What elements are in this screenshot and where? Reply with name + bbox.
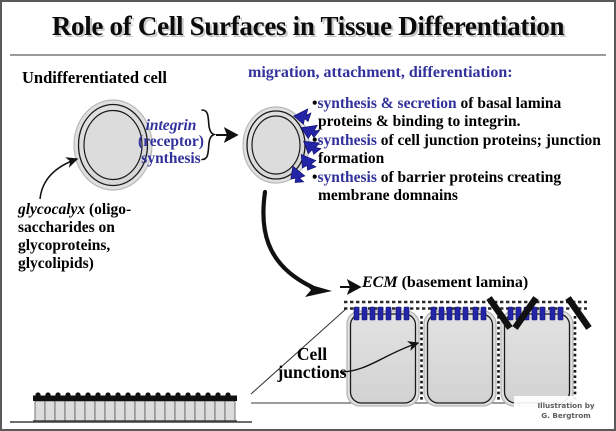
ecm-detail: (basement lamina) [398,274,529,291]
list-item: •synthesis & secretion of basal lamina p… [312,95,614,131]
integrin-word: integrin [138,118,204,134]
synthesis-word: synthesis [138,151,204,167]
differentiated-cell-with-integrins [243,107,321,185]
label-undifferentiated-cell: Undifferentiated cell [22,68,167,88]
figure-slide: Role of Cell Surfaces in Tissue Differen… [0,0,616,431]
list-item: •synthesis of cell junction proteins; ju… [312,132,614,168]
label-glycocalyx: glycocalyx (oligo-saccharides on glycopr… [18,201,158,273]
heading-migration-attachment-differentiation: migration, attachment, differentiation: [248,64,614,82]
page-title: Role of Cell Surfaces in Tissue Differen… [2,11,614,42]
bullet-emphasis: synthesis & secretion [317,95,456,112]
glycocalyx-pointer-arrow [40,159,77,199]
junction-cell [424,311,496,406]
credit-line-1: Illustration by [527,401,605,411]
label-integrin-synthesis: integrin (receptor) synthesis [138,118,204,167]
title-rule [10,54,606,56]
label-cell-junctions: Cell junctions [257,346,367,382]
receptor-word: (receptor) [138,134,204,150]
list-item: •synthesis of barrier proteins creating … [312,169,614,205]
bullet-list: •synthesis & secretion of basal lamina p… [312,95,614,206]
glycocalyx-word: glycocalyx [18,201,85,218]
epithelium-strip [10,392,252,422]
junction-cell-group [340,298,589,406]
label-ecm: ECM (basement lamina) [362,274,612,292]
cell-junctions-line2: junctions [257,364,367,382]
credit-line-2: G. Bergtrom [527,411,605,421]
illustration-credit: Illustration by G. Bergtrom [527,401,605,420]
bullet-emphasis: synthesis [317,132,376,149]
bullet-emphasis: synthesis [317,169,376,186]
differentiation-flow-arrowhead [304,283,332,297]
differentiation-flow-arrow [263,192,312,287]
ecm-word: ECM [362,274,398,291]
